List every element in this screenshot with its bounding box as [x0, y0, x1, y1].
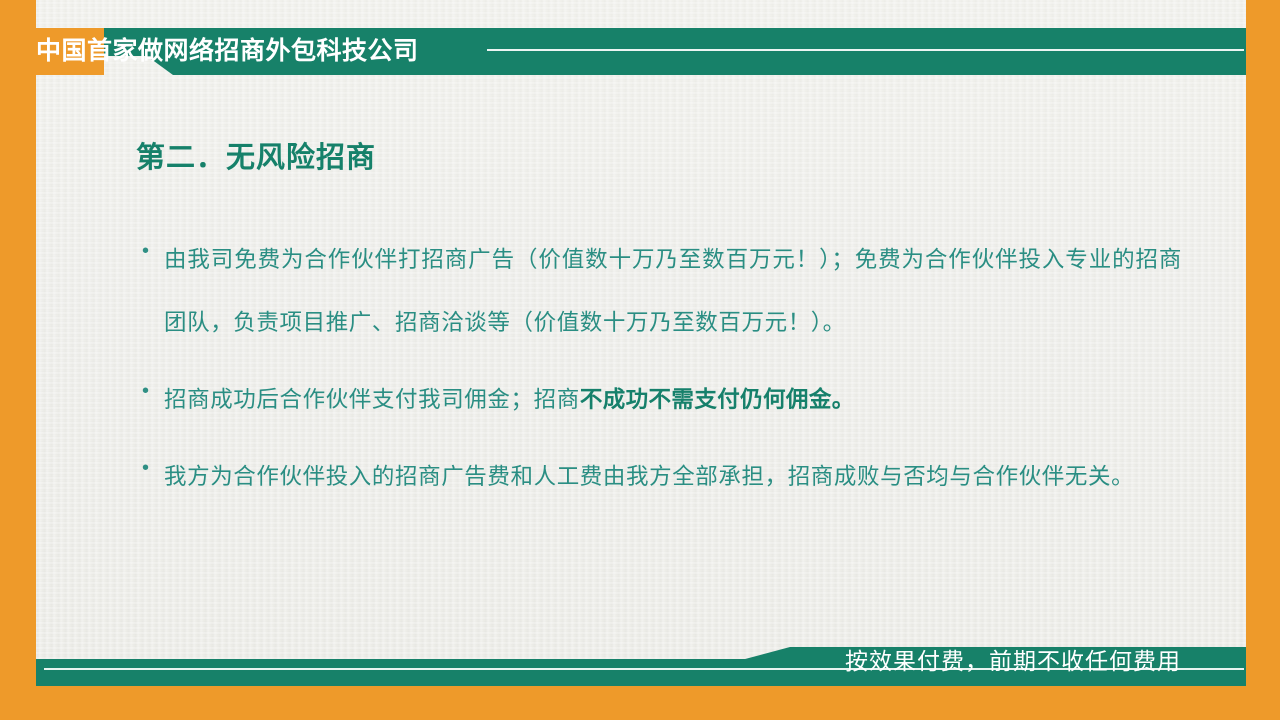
footer-slogan: 按效果付费，前期不收任何费用: [845, 645, 1245, 677]
company-tagline: 中国首家做网络招商外包科技公司: [36, 33, 556, 69]
list-item-text-segment: 招商成功后合作伙伴支付我司佣金；招商: [164, 387, 580, 412]
bullet-dot-icon: •: [142, 368, 164, 414]
list-item-emphasis-segment: 不成功不需支付仍何佣金。: [580, 387, 855, 412]
slide-canvas: 中国首家做网络招商外包科技公司 第二．无风险招商 • 由我司免费为合作伙伴打招商…: [0, 0, 1280, 720]
bullet-dot-icon: •: [142, 228, 164, 274]
list-item: • 招商成功后合作伙伴支付我司佣金；招商不成功不需支付仍何佣金。: [142, 368, 1182, 431]
section-heading: 第二．无风险招商: [136, 134, 376, 176]
list-item-text-segment: 我方为合作伙伴投入的招商广告费和人工费由我方全部承担，招商成败与否均与合作伙伴无…: [164, 464, 1134, 489]
list-item-text: 由我司免费为合作伙伴打招商广告（价值数十万乃至数百万元！）；免费为合作伙伴投入专…: [164, 228, 1182, 354]
list-item-text: 我方为合作伙伴投入的招商广告费和人工费由我方全部承担，招商成败与否均与合作伙伴无…: [164, 445, 1182, 508]
bullet-dot-icon: •: [142, 445, 164, 491]
list-item: • 我方为合作伙伴投入的招商广告费和人工费由我方全部承担，招商成败与否均与合作伙…: [142, 445, 1182, 508]
bullet-list: • 由我司免费为合作伙伴打招商广告（价值数十万乃至数百万元！）；免费为合作伙伴投…: [142, 228, 1182, 522]
list-item-text: 招商成功后合作伙伴支付我司佣金；招商不成功不需支付仍何佣金。: [164, 368, 1182, 431]
list-item-text-segment: 由我司免费为合作伙伴打招商广告（价值数十万乃至数百万元！）；免费为合作伙伴投入专…: [164, 247, 1182, 335]
list-item: • 由我司免费为合作伙伴打招商广告（价值数十万乃至数百万元！）；免费为合作伙伴投…: [142, 228, 1182, 354]
frame-edge-right: [1246, 0, 1280, 720]
frame-edge-left: [0, 0, 36, 720]
top-banner-rule: [487, 49, 1244, 51]
frame-edge-bottom: [0, 686, 1280, 720]
